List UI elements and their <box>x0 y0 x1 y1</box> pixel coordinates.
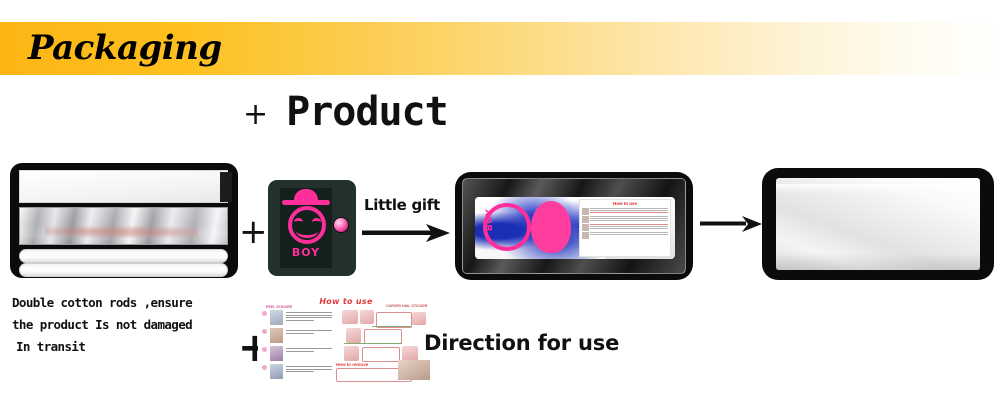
pink-gem-icon <box>334 218 348 232</box>
page-title: Packaging <box>28 28 222 68</box>
product-photo-instruction-sheet: How to use PEEL STICKER CURVED NAIL STIC… <box>258 296 432 382</box>
packaging-banner: Packaging <box>0 22 1000 75</box>
product-photo-mailer-bag <box>762 168 994 280</box>
product-heading-text: Product <box>286 92 448 132</box>
flow-image <box>412 312 426 325</box>
step-bullet-icon <box>262 329 267 334</box>
package-side-tag <box>220 172 232 202</box>
boy-sticker-label: BOY <box>485 209 495 231</box>
product-photo-clear-bag: BOY How to use <box>455 172 693 280</box>
step-bullet-icon <box>262 365 267 370</box>
bowler-hat-brim-icon <box>282 200 330 205</box>
pink-product-shape <box>531 201 571 253</box>
instruction-remove-photo <box>398 360 430 380</box>
gift-card-label: BOY <box>268 246 344 259</box>
little-gift-label: Little gift <box>364 196 440 214</box>
sheet-thumb <box>582 224 589 231</box>
packed-instruction-sheet: How to use <box>579 199 671 257</box>
caption-line-1: Double cotton rods ,ensure <box>12 292 244 314</box>
instruction-sub-right: CURVED NAIL STICKER <box>386 304 427 308</box>
flow-image <box>344 346 359 361</box>
product-photo-cotton-rods <box>10 163 238 278</box>
packed-product: BOY How to use <box>475 197 675 259</box>
step-thumbnail <box>270 346 283 361</box>
flow-image <box>402 346 418 361</box>
flow-connector <box>372 326 412 327</box>
cotton-rod-bottom <box>19 263 228 277</box>
instruction-step <box>262 328 332 343</box>
flow-step-box <box>364 329 402 344</box>
flow-step-box <box>362 347 400 362</box>
cotton-rods-caption: Double cotton rods ,ensure the product I… <box>12 292 244 358</box>
caption-line-2: the product Is not damaged <box>12 314 244 336</box>
flow-image <box>346 328 361 343</box>
caption-line-3: In transit <box>12 336 244 358</box>
flow-arrow-1-icon <box>362 222 450 244</box>
direction-for-use-label: Direction for use <box>424 331 619 355</box>
cotton-rod-top <box>19 249 228 263</box>
instruction-sheet-title: How to use <box>306 297 386 306</box>
package-foil-window <box>19 207 228 245</box>
step-bullet-icon <box>262 311 267 316</box>
instruction-step <box>262 346 332 361</box>
sheet-thumb <box>582 232 589 239</box>
step-thumbnail <box>270 328 283 343</box>
sheet-thumb <box>582 216 589 223</box>
flow-image <box>342 310 358 324</box>
flow-connector <box>344 343 402 344</box>
instruction-step <box>262 364 332 379</box>
instruction-steps-column <box>262 310 332 382</box>
product-heading: + Product <box>243 92 448 132</box>
instruction-sub-left: PEEL STICKER <box>266 305 292 309</box>
white-mailer-bag <box>776 178 980 270</box>
plus-icon-top: + <box>239 215 268 249</box>
plus-icon: + <box>243 100 268 130</box>
step-thumbnail <box>270 364 283 379</box>
packed-sheet-title: How to use <box>582 202 668 207</box>
flow-image <box>360 310 374 324</box>
step-thumbnail <box>270 310 283 325</box>
smiley-mouth-icon <box>296 224 318 238</box>
step-bullet-icon <box>262 347 267 352</box>
instruction-step <box>262 310 332 325</box>
flow-arrow-2-icon <box>700 213 762 235</box>
instruction-remove-title: How to remove <box>336 362 394 367</box>
product-photo-gift-card: BOY <box>268 180 356 276</box>
clear-plastic-bag: BOY How to use <box>462 178 686 274</box>
sheet-thumb <box>582 208 589 215</box>
package-white-band <box>19 170 228 203</box>
